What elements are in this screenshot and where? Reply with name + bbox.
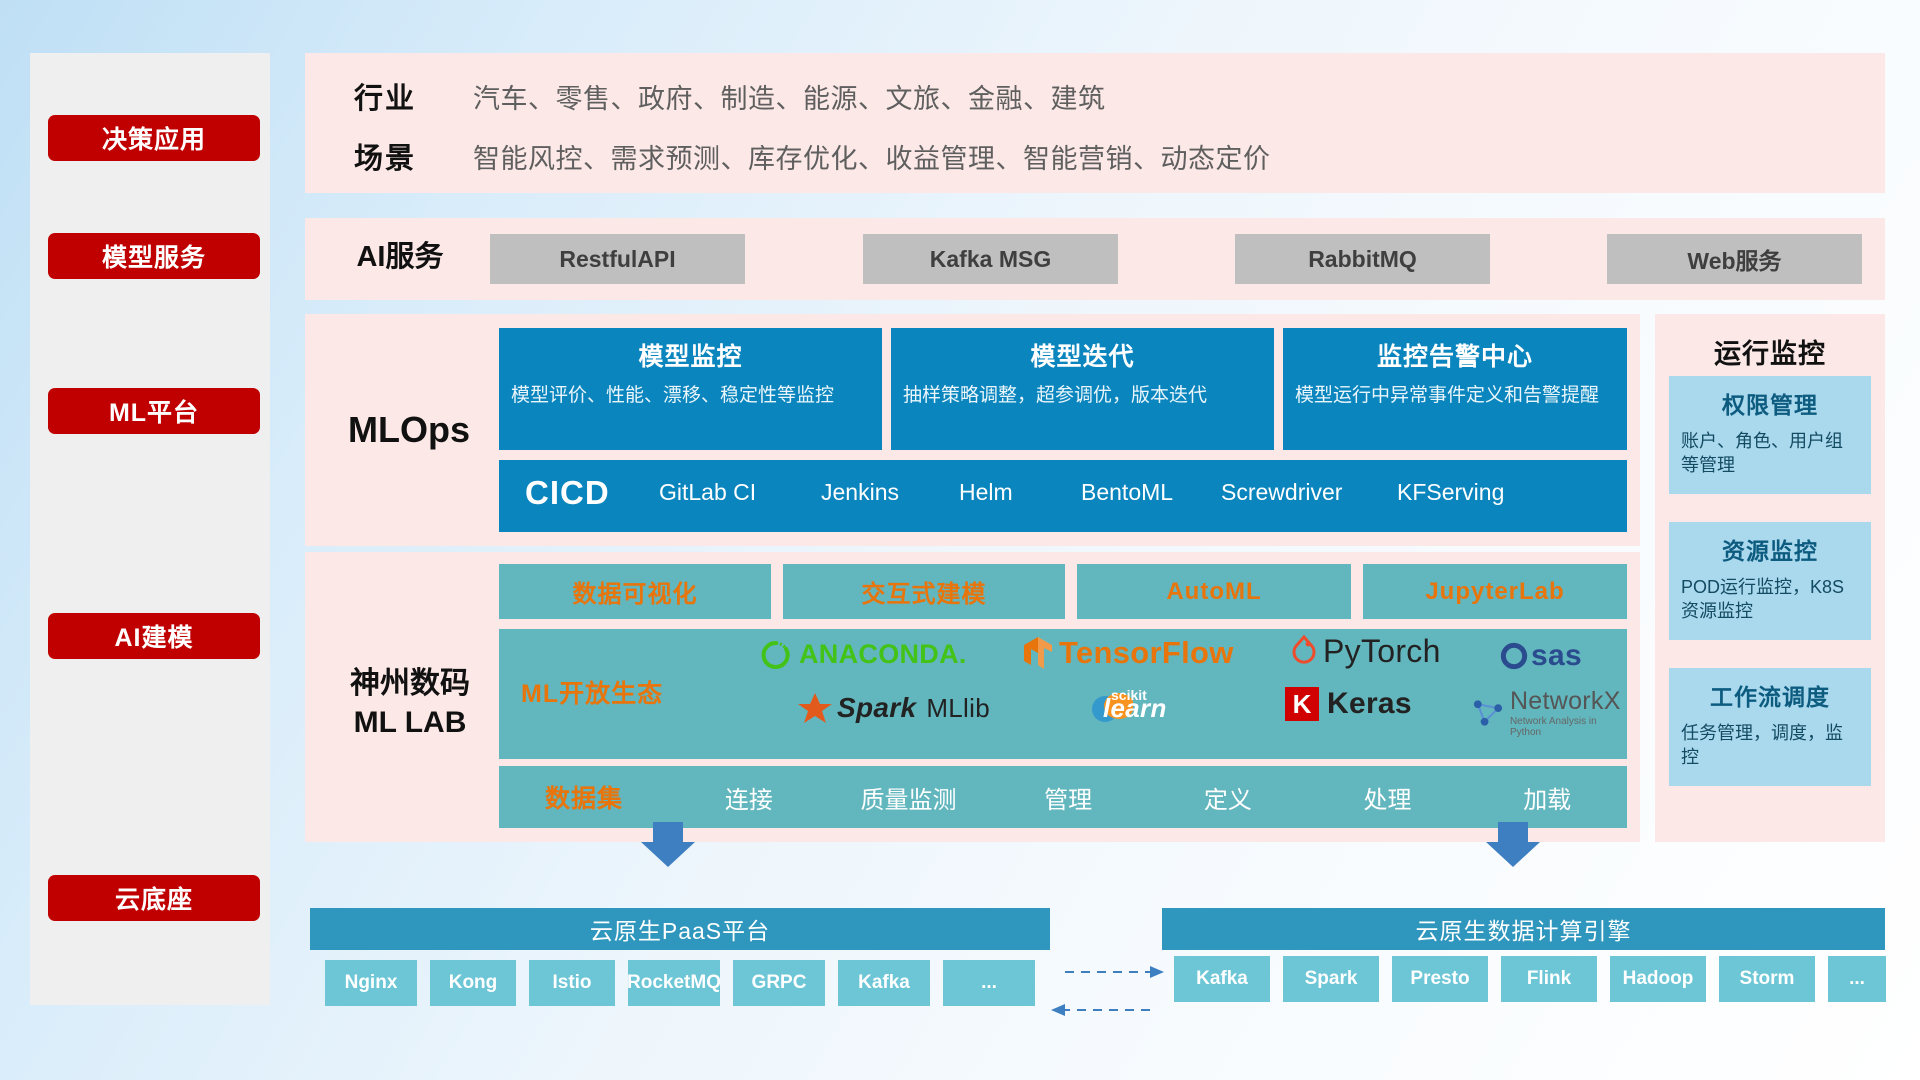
- runtime-monitoring-band: 运行监控 权限管理 账户、角色、用户组等管理 资源监控 POD运行监控，K8S资…: [1655, 314, 1885, 842]
- engine-chip-kafka[interactable]: Kafka: [1174, 956, 1270, 1002]
- ai-modeling-band: 神州数码 ML LAB 数据可视化 交互式建模 AutoML JupyterLa…: [305, 552, 1640, 842]
- monitor-card-desc: 任务管理，调度，监控: [1681, 721, 1859, 770]
- paas-chip-rocketmq[interactable]: RocketMQ: [628, 960, 720, 1006]
- scikit-learn-logo: scikit learn: [1091, 689, 1167, 727]
- paas-chip-more[interactable]: ...: [943, 960, 1035, 1006]
- engine-chip-storm[interactable]: Storm: [1719, 956, 1815, 1002]
- cicd-title: CICD: [525, 474, 610, 512]
- mlops-card-title: 模型监控: [511, 337, 870, 373]
- dataset-item-define[interactable]: 定义: [1148, 780, 1308, 815]
- dashed-arrow-right-head-icon: [1150, 966, 1164, 978]
- dataset-item-quality[interactable]: 质量监测: [829, 780, 989, 815]
- scenario-label: 场景: [325, 135, 445, 177]
- left-rail: 决策应用 模型服务 ML平台 AI建模 云底座: [30, 53, 270, 1005]
- spark-label: Spark: [837, 692, 916, 724]
- ai-service-label: AI服务: [325, 240, 475, 274]
- cicd-item-kfserving[interactable]: KFServing: [1397, 478, 1517, 507]
- keras-mark-icon: K: [1285, 687, 1319, 721]
- networkx-label: NetworkX: [1510, 687, 1627, 716]
- dataset-label: 数据集: [499, 779, 669, 815]
- mllib-label: MLlib: [926, 693, 990, 724]
- anaconda-label: ANACONDA.: [799, 639, 967, 670]
- networkx-sublabel: Network Analysis in Python: [1510, 716, 1627, 738]
- cicd-item-gitlab-ci[interactable]: GitLab CI: [659, 478, 779, 507]
- paas-chip-nginx[interactable]: Nginx: [325, 960, 417, 1006]
- mlops-card-desc: 模型评价、性能、漂移、稳定性等监控: [511, 383, 870, 409]
- rail-item-cloud-base[interactable]: 云底座: [48, 875, 260, 921]
- industry-scenario-band: 行业 汽车、零售、政府、制造、能源、文旅、金融、建筑 场景 智能风控、需求预测、…: [305, 53, 1885, 193]
- industry-label: 行业: [325, 75, 445, 117]
- sas-label: sas: [1531, 639, 1582, 673]
- ml-lab-label: 神州数码 ML LAB: [315, 664, 505, 742]
- networkx-icon: [1471, 696, 1506, 730]
- monitor-card-desc: 账户、角色、用户组等管理: [1681, 429, 1859, 478]
- industry-value: 汽车、零售、政府、制造、能源、文旅、金融、建筑: [473, 77, 1106, 116]
- mlops-card-model-monitor[interactable]: 模型监控 模型评价、性能、漂移、稳定性等监控: [499, 328, 882, 450]
- dataset-item-connect[interactable]: 连接: [669, 780, 829, 815]
- ai-service-band: AI服务 RestfulAPI Kafka MSG RabbitMQ Web服务: [305, 218, 1885, 300]
- ai-chip-web-service[interactable]: Web服务: [1607, 234, 1862, 284]
- monitor-card-permission[interactable]: 权限管理 账户、角色、用户组等管理: [1669, 376, 1871, 494]
- diagram-canvas: 决策应用 模型服务 ML平台 AI建模 云底座 行业 汽车、零售、政府、制造、能…: [0, 0, 1920, 1080]
- engine-chip-spark[interactable]: Spark: [1283, 956, 1379, 1002]
- pytorch-logo: PyTorch: [1289, 633, 1441, 670]
- rail-item-ml-platform[interactable]: ML平台: [48, 388, 260, 434]
- monitor-card-title: 权限管理: [1681, 386, 1859, 420]
- mlops-card-model-iteration[interactable]: 模型迭代 抽样策略调整，超参调优，版本迭代: [891, 328, 1274, 450]
- cicd-item-screwdriver[interactable]: Screwdriver: [1221, 478, 1341, 507]
- scikit-label: scikit: [1111, 687, 1147, 703]
- paas-chip-grpc[interactable]: GRPC: [733, 960, 825, 1006]
- spark-star-icon: [795, 691, 835, 725]
- paas-chip-kong[interactable]: Kong: [430, 960, 516, 1006]
- runtime-monitoring-title: 运行监控: [1655, 332, 1885, 371]
- ml-lab-label-line2: ML LAB: [315, 703, 505, 742]
- monitor-card-workflow[interactable]: 工作流调度 任务管理，调度，监控: [1669, 668, 1871, 786]
- mlops-card-title: 监控告警中心: [1295, 337, 1615, 373]
- monitor-card-title: 工作流调度: [1681, 678, 1859, 712]
- pytorch-label: PyTorch: [1323, 633, 1441, 670]
- paas-chip-kafka[interactable]: Kafka: [838, 960, 930, 1006]
- cicd-item-helm[interactable]: Helm: [959, 478, 1079, 507]
- monitor-card-desc: POD运行监控，K8S资源监控: [1681, 575, 1859, 624]
- mlops-band: MLOps 模型监控 模型评价、性能、漂移、稳定性等监控 模型迭代 抽样策略调整…: [305, 314, 1640, 546]
- monitor-card-title: 资源监控: [1681, 532, 1859, 566]
- tool-chip-data-visualization[interactable]: 数据可视化: [499, 564, 771, 619]
- tool-chip-jupyterlab[interactable]: JupyterLab: [1363, 564, 1627, 619]
- mlops-card-desc: 抽样策略调整，超参调优，版本迭代: [903, 383, 1262, 409]
- engine-chip-more[interactable]: ...: [1828, 956, 1886, 1002]
- mlops-label: MLOps: [319, 409, 499, 451]
- cicd-item-jenkins[interactable]: Jenkins: [821, 478, 941, 507]
- monitor-card-resource[interactable]: 资源监控 POD运行监控，K8S资源监控: [1669, 522, 1871, 640]
- tensorflow-icon: [1021, 635, 1055, 671]
- engine-chip-presto[interactable]: Presto: [1392, 956, 1488, 1002]
- tool-chip-automl[interactable]: AutoML: [1077, 564, 1351, 619]
- spark-mllib-logo: Spark MLlib: [795, 691, 990, 725]
- ai-chip-kafka-msg[interactable]: Kafka MSG: [863, 234, 1118, 284]
- engine-chip-hadoop[interactable]: Hadoop: [1610, 956, 1706, 1002]
- pytorch-icon: [1289, 635, 1319, 669]
- rail-item-decision[interactable]: 决策应用: [48, 115, 260, 161]
- ai-chip-restfulapi[interactable]: RestfulAPI: [490, 234, 745, 284]
- mlops-card-title: 模型迭代: [903, 337, 1262, 373]
- cicd-bar: CICD GitLab CI Jenkins Helm BentoML Scre…: [499, 460, 1627, 532]
- dataset-item-process[interactable]: 处理: [1308, 780, 1468, 815]
- rail-item-model-service[interactable]: 模型服务: [48, 233, 260, 279]
- engine-chip-flink[interactable]: Flink: [1501, 956, 1597, 1002]
- tensorflow-logo: TensorFlow: [1021, 635, 1234, 671]
- tensorflow-label: TensorFlow: [1059, 635, 1234, 671]
- ml-open-ecosystem-label: ML开放生态: [521, 674, 691, 710]
- paas-platform-bar[interactable]: 云原生PaaS平台: [310, 908, 1050, 950]
- networkx-logo: NetworkX Network Analysis in Python: [1471, 687, 1627, 738]
- ml-open-ecosystem-box: ML开放生态 ANACONDA. TensorFlow: [499, 629, 1627, 759]
- anaconda-icon: [761, 640, 791, 670]
- ml-lab-label-line1: 神州数码: [315, 664, 505, 703]
- paas-chip-istio[interactable]: Istio: [529, 960, 615, 1006]
- scenario-value: 智能风控、需求预测、库存优化、收益管理、智能营销、动态定价: [473, 137, 1271, 176]
- data-engine-bar[interactable]: 云原生数据计算引擎: [1162, 908, 1885, 950]
- ai-chip-rabbitmq[interactable]: RabbitMQ: [1235, 234, 1490, 284]
- cicd-item-bentoml[interactable]: BentoML: [1081, 478, 1201, 507]
- dataset-box: 数据集 连接 质量监测 管理 定义 处理 加载: [499, 766, 1627, 828]
- keras-label: Keras: [1327, 687, 1412, 721]
- keras-logo: K Keras: [1285, 687, 1412, 721]
- tool-chip-interactive-modeling[interactable]: 交互式建模: [783, 564, 1065, 619]
- sas-logo: sas: [1499, 639, 1582, 673]
- rail-item-ai-modeling[interactable]: AI建模: [48, 613, 260, 659]
- dataset-item-manage[interactable]: 管理: [988, 780, 1148, 815]
- mlops-card-desc: 模型运行中异常事件定义和告警提醒: [1295, 383, 1615, 409]
- sas-icon: [1499, 641, 1529, 671]
- anaconda-logo: ANACONDA.: [761, 639, 967, 670]
- dataset-item-load[interactable]: 加载: [1467, 780, 1627, 815]
- mlops-card-alert-center[interactable]: 监控告警中心 模型运行中异常事件定义和告警提醒: [1283, 328, 1627, 450]
- dashed-arrow-left-head-icon: [1051, 1004, 1065, 1016]
